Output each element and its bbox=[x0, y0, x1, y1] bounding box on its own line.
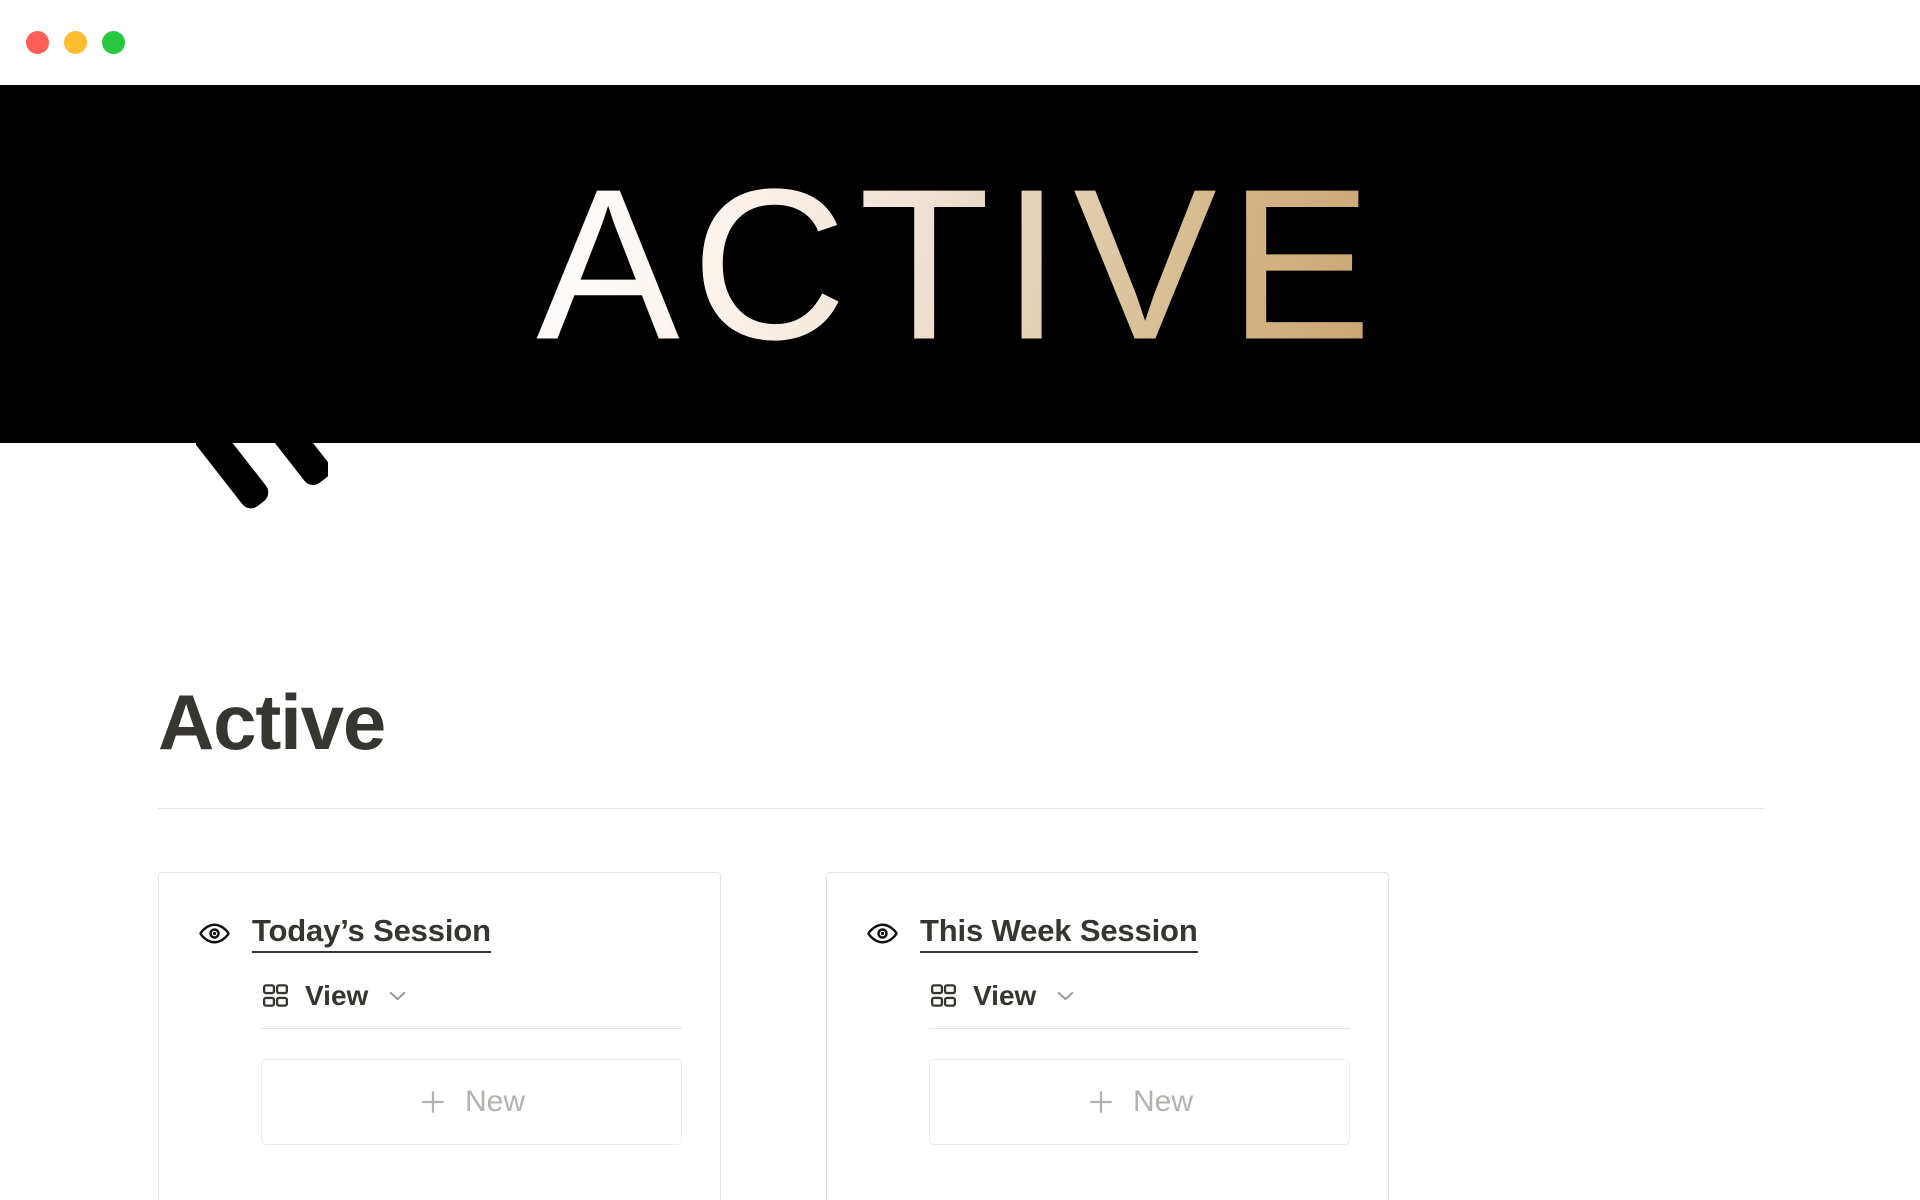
chevron-down-icon[interactable] bbox=[385, 983, 410, 1008]
page-body: Active Today’s Session bbox=[0, 443, 1920, 1200]
new-item-button[interactable]: New bbox=[929, 1059, 1350, 1145]
eye-icon bbox=[199, 918, 230, 949]
plus-icon bbox=[418, 1087, 448, 1117]
session-card[interactable]: Today’s Session View bbox=[158, 872, 721, 1200]
chevron-down-icon[interactable] bbox=[1053, 983, 1078, 1008]
eye-icon bbox=[867, 918, 898, 949]
card-title[interactable]: Today’s Session bbox=[252, 915, 491, 953]
view-divider bbox=[261, 1028, 682, 1029]
page-cover-banner[interactable]: ACTIVE bbox=[0, 85, 1920, 443]
gallery-grid-icon bbox=[261, 981, 290, 1010]
view-selector[interactable]: View bbox=[929, 980, 1348, 1012]
linked-database-cards: Today’s Session View bbox=[158, 872, 1764, 1200]
plus-icon bbox=[1086, 1087, 1116, 1117]
gallery-grid-icon bbox=[929, 981, 958, 1010]
card-header: This Week Session bbox=[867, 915, 1348, 953]
view-label: View bbox=[305, 980, 368, 1012]
title-divider bbox=[158, 808, 1764, 809]
view-label: View bbox=[973, 980, 1036, 1012]
page-title[interactable]: Active bbox=[158, 683, 385, 761]
app-window: ACTIVE Active Today’s Sess bbox=[0, 0, 1920, 1200]
view-divider bbox=[929, 1028, 1350, 1029]
window-titlebar bbox=[0, 0, 1920, 85]
cover-wordmark: ACTIVE bbox=[536, 157, 1384, 372]
new-label: New bbox=[1133, 1085, 1193, 1119]
view-selector[interactable]: View bbox=[261, 980, 680, 1012]
maximize-button[interactable] bbox=[102, 31, 125, 54]
card-header: Today’s Session bbox=[199, 915, 680, 953]
card-title[interactable]: This Week Session bbox=[920, 915, 1198, 953]
close-button[interactable] bbox=[26, 31, 49, 54]
traffic-light-group bbox=[26, 31, 125, 54]
minimize-button[interactable] bbox=[64, 31, 87, 54]
session-card[interactable]: This Week Session View bbox=[826, 872, 1389, 1200]
new-item-button[interactable]: New bbox=[261, 1059, 682, 1145]
new-label: New bbox=[465, 1085, 525, 1119]
